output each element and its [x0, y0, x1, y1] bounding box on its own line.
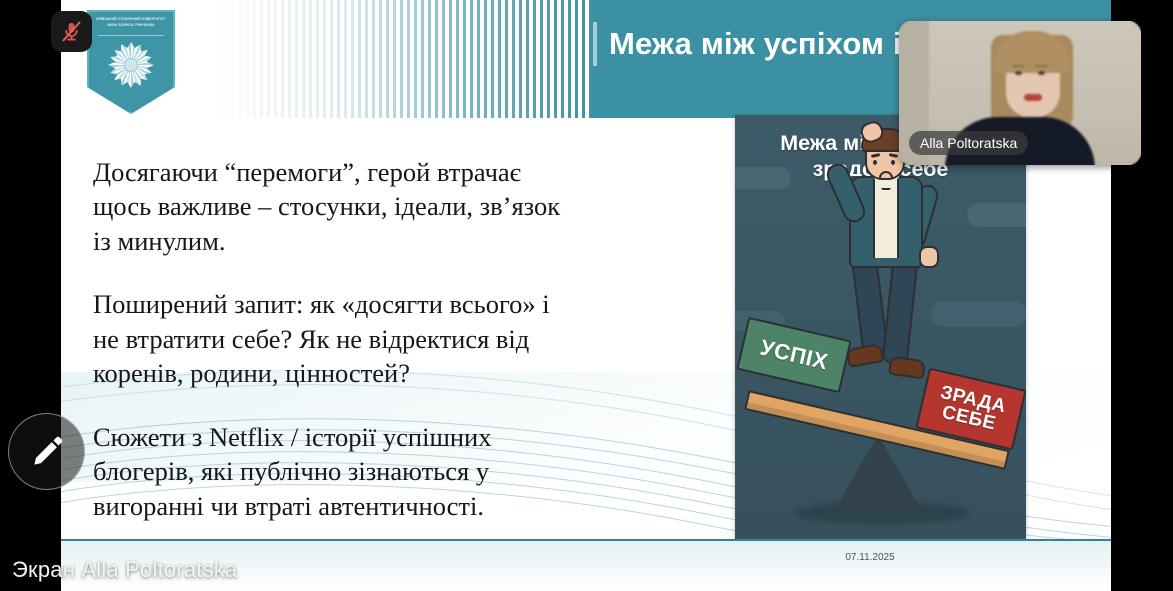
- seesaw-illustration: УСПІХ ЗРАДА СЕБЕ: [735, 210, 1026, 547]
- header-accent-bar: [593, 22, 597, 66]
- right-leg: [882, 259, 919, 365]
- right-hand: [919, 246, 939, 268]
- screen-share-label: Экран Alla Poltoratska: [12, 557, 237, 583]
- crest-line-2: ІМЕНІ БОРИСА ГРІНЧЕНКА: [92, 23, 170, 28]
- left-eye: [873, 160, 877, 165]
- slide-footer-divider: [61, 539, 1111, 541]
- microphone-muted-icon: [60, 20, 83, 43]
- crest-divider: [98, 35, 164, 36]
- slide-paragraph: Досягаючи “перемоги”, герой втрачає щось…: [93, 155, 563, 258]
- left-shoe: [846, 343, 885, 368]
- participant-video-tile[interactable]: Alla Poltoratska: [899, 21, 1141, 165]
- participant-name-label: Alla Poltoratska: [909, 131, 1028, 155]
- pencil-icon: [29, 434, 65, 470]
- slide-date: 07.11.2025: [805, 552, 935, 563]
- microphone-muted-badge[interactable]: [51, 11, 92, 52]
- right-shoe: [888, 356, 926, 380]
- slide-body: Досягаючи “перемоги”, герой втрачає щось…: [93, 155, 563, 523]
- right-eye: [891, 160, 895, 165]
- illustration-card: Межа між успіхом і зрадою себе: [735, 115, 1026, 547]
- betrayal-sign-label: ЗРАДА СЕБЕ: [934, 383, 1008, 436]
- annotate-button[interactable]: [8, 413, 85, 490]
- crest-line-1: КИЇВСЬКИЙ СТОЛИЧНИЙ УНІВЕРСИТЕТ: [92, 17, 170, 22]
- letterbox-left: [0, 0, 61, 591]
- success-sign-label: УСПІХ: [758, 336, 830, 373]
- slide-paragraph: Сюжети з Netflix / історії успішних блог…: [93, 420, 563, 523]
- university-logo: КИЇВСЬКИЙ СТОЛИЧНИЙ УНІВЕРСИТЕТ ІМЕНІ БО…: [87, 10, 175, 120]
- screen-share-viewport: Межа між успіхом і КИЇВСЬКИЙ СТОЛИЧНИЙ У…: [0, 0, 1173, 591]
- header-stripe-pattern: [211, 0, 593, 118]
- mouth: [879, 171, 893, 178]
- slide-paragraph: Поширений запит: як «досягти всього» і н…: [93, 287, 563, 390]
- crest-center-icon: [124, 58, 138, 72]
